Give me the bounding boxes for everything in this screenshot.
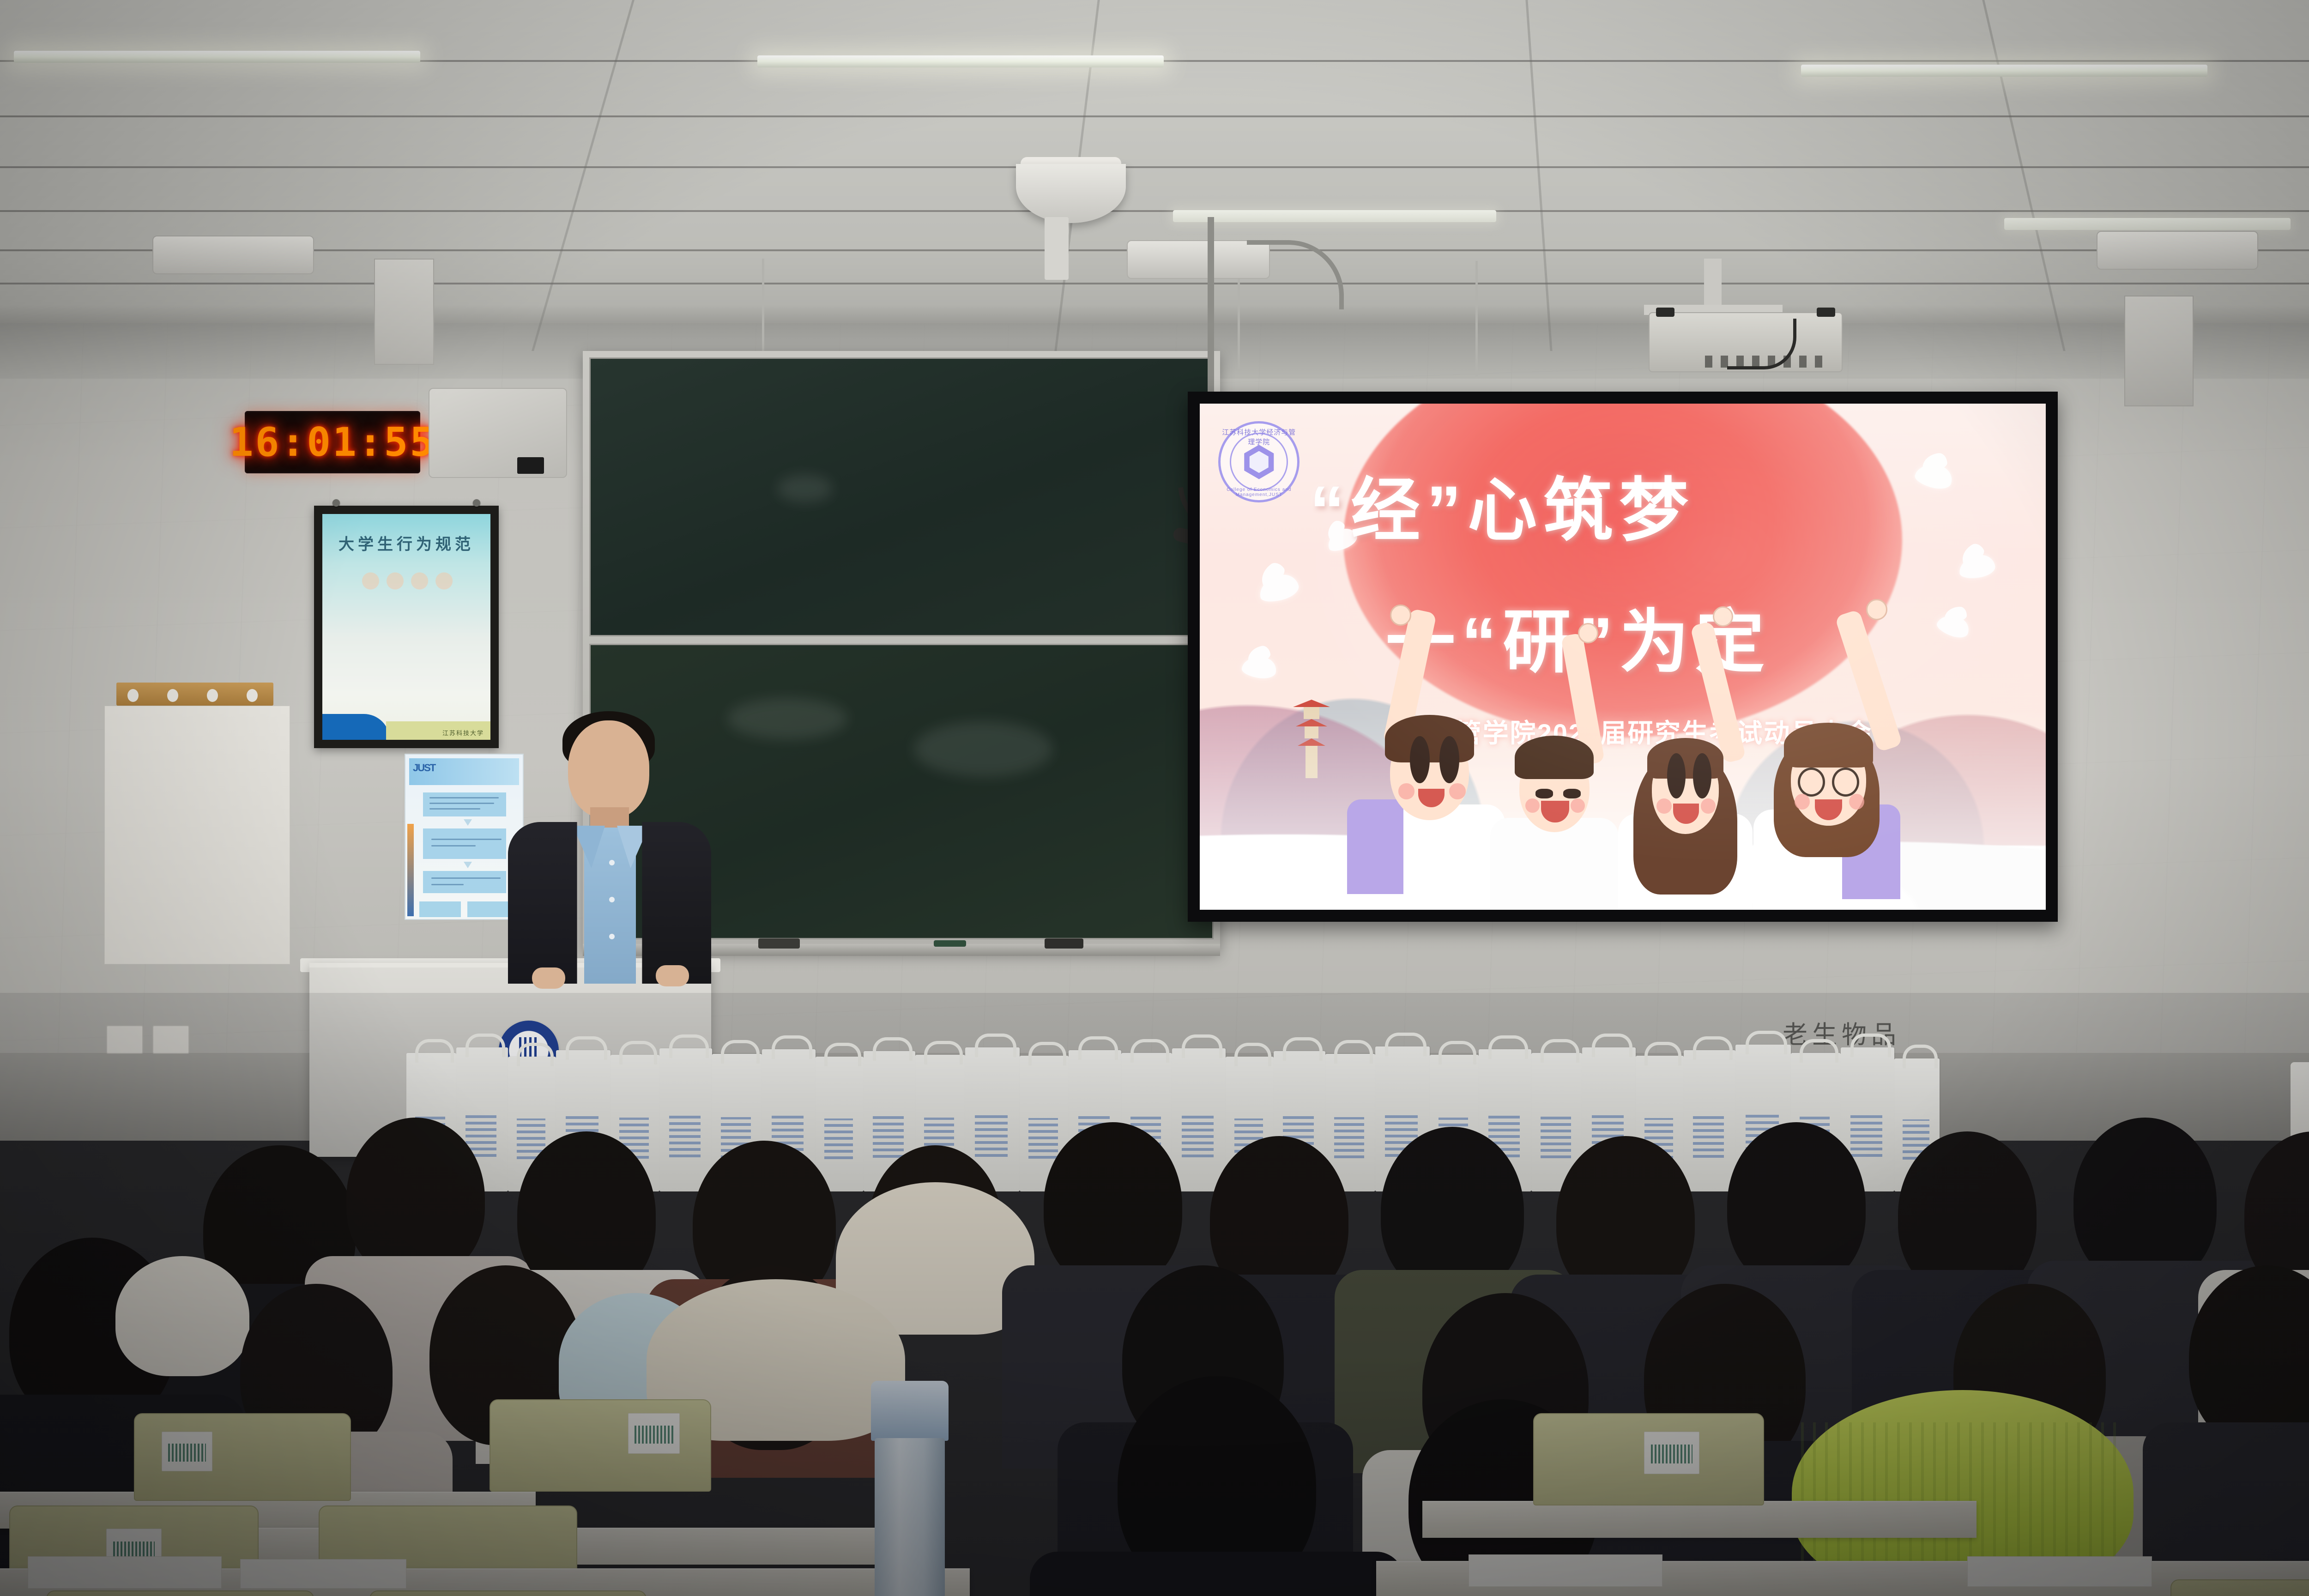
flowchart-box <box>423 871 506 893</box>
coat-hook-icon[interactable] <box>207 689 218 702</box>
presenter-hand-left <box>532 967 565 989</box>
chalkboard-upper-panel <box>589 357 1214 636</box>
coat-hook-rail[interactable] <box>116 683 273 706</box>
lecture-hall-photo: 16:01:55 大学生行为规范 江苏科技大学 JUST <box>0 0 2309 1596</box>
light-suspension-rod <box>762 259 764 365</box>
flowchart-text-line <box>431 884 464 885</box>
seat-sticker <box>1644 1432 1699 1474</box>
bottle-cap[interactable] <box>871 1381 949 1441</box>
desk-paper <box>240 1559 406 1589</box>
audience-white-beanie <box>115 1256 249 1376</box>
wall-speaker <box>152 236 314 274</box>
tote-bag <box>1172 1048 1226 1191</box>
poster-title: 大学生行为规范 <box>322 532 490 554</box>
water-bottle[interactable] <box>868 1381 951 1596</box>
audience-shoulders-foreground <box>1030 1552 1404 1596</box>
clock-time-display: 16:01:55 <box>230 419 435 465</box>
flowchart-arrow-icon <box>464 819 472 826</box>
wall-speaker <box>2097 231 2258 270</box>
dove-icon <box>1257 571 1301 605</box>
flowchart-text-line <box>431 877 501 879</box>
desk-row <box>1422 1501 1977 1538</box>
flowchart-arrow-icon <box>464 862 472 868</box>
seat-sticker <box>628 1413 680 1454</box>
flowchart-box <box>419 901 461 917</box>
desk-paper <box>1469 1554 1662 1587</box>
poster-figures <box>359 565 453 597</box>
college-logo: 江苏科技大学经济与管理学院 College of Economics and M… <box>1218 421 1300 502</box>
university-logo-icon: JUST <box>413 762 433 779</box>
dove-icon <box>1958 553 1996 580</box>
coat-hook-icon[interactable] <box>247 689 258 702</box>
poster-artwork: 大学生行为规范 江苏科技大学 <box>322 514 490 740</box>
slide-student <box>1481 668 1628 910</box>
wall-white-panel <box>104 706 290 964</box>
control-box-vent-icon <box>517 457 544 474</box>
wall-junction-box <box>2124 296 2194 406</box>
framed-poster: 大学生行为规范 江苏科技大学 <box>314 506 499 748</box>
flowchart-text-line <box>429 808 480 810</box>
poster-nail <box>473 499 480 507</box>
presenter-head <box>568 720 649 818</box>
poster-credit: 江苏科技大学 <box>442 728 484 737</box>
slide-student <box>1743 647 1914 910</box>
seat-back <box>46 1590 314 1596</box>
chalk-eraser[interactable] <box>758 938 800 949</box>
poster-nail <box>332 499 340 507</box>
projector-mount-pole <box>1704 259 1722 308</box>
ceiling-light-tube <box>2004 218 2291 230</box>
audience-head <box>1727 1122 1866 1288</box>
flowchart-box <box>423 828 506 859</box>
dove-icon <box>1913 459 1955 492</box>
college-logo-english-text: College of Economics and Management,JUST <box>1221 487 1297 497</box>
seat-sticker <box>162 1432 212 1471</box>
chalk-eraser[interactable] <box>1045 938 1083 949</box>
poster-hill-shape <box>322 714 390 740</box>
desk-paper <box>1967 1556 2152 1587</box>
ceiling-light-tube <box>14 51 420 63</box>
tote-bag <box>659 1048 712 1191</box>
flowchart-side-bar <box>407 824 414 916</box>
light-suspension-rod <box>1475 261 1478 376</box>
presenter-hand-right <box>656 965 689 986</box>
tote-bag <box>816 1057 864 1191</box>
presenter <box>503 707 716 984</box>
slide-students-illustration <box>1335 647 1944 910</box>
tote-bag <box>1684 1050 1735 1191</box>
bottle-body <box>875 1438 945 1596</box>
seat-back <box>2170 1579 2309 1596</box>
projected-slide: 江苏科技大学经济与管理学院 College of Economics and M… <box>1200 404 2046 910</box>
wall-control-box[interactable] <box>429 388 567 478</box>
college-logo-hex-icon <box>1242 445 1276 479</box>
flowchart-text-line <box>429 803 494 804</box>
ceiling-light-tube <box>1801 65 2207 77</box>
audience-area <box>0 1007 2309 1596</box>
seat-back <box>369 1590 647 1596</box>
flowchart-text-line <box>431 845 476 846</box>
ceiling-dome-tab <box>1045 217 1069 280</box>
coat-hook-icon[interactable] <box>127 689 139 702</box>
audience-head <box>1044 1122 1182 1288</box>
slide-title-line1: “经”心筑梦 <box>1310 454 1695 555</box>
desk-paper <box>28 1556 222 1589</box>
chalk-piece[interactable] <box>934 940 966 947</box>
audience-head <box>346 1118 485 1279</box>
led-clock: 16:01:55 <box>245 411 420 473</box>
ceiling-light-tube <box>757 55 1164 67</box>
projection-screen: 江苏科技大学经济与管理学院 College of Economics and M… <box>1188 392 2058 922</box>
coat-hook-icon[interactable] <box>167 689 178 702</box>
flowchart-text-line <box>429 797 499 798</box>
flowchart-box <box>423 792 506 816</box>
flowchart-text-line <box>431 839 502 840</box>
wall-junction-box <box>374 259 434 365</box>
slide-student <box>1609 657 1762 910</box>
college-logo-ring <box>1230 433 1288 491</box>
ceiling-light-tube <box>1173 210 1496 222</box>
